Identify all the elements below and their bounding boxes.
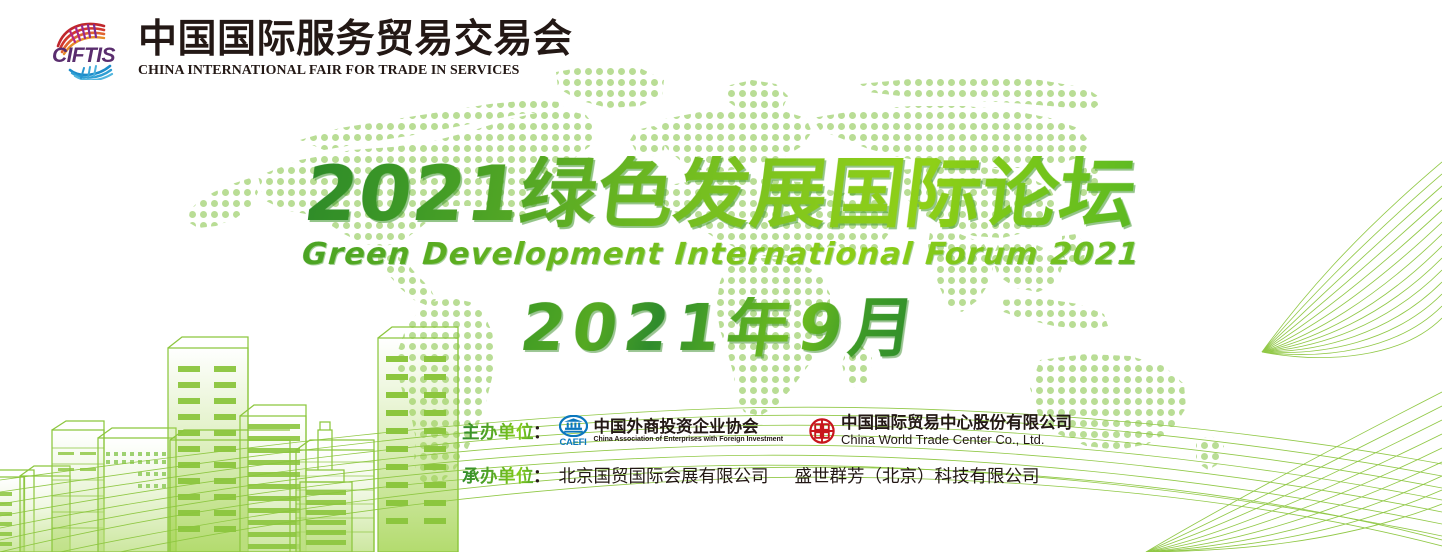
cwtc-logo-icon: [809, 418, 835, 444]
caefi-logo-icon: [559, 415, 588, 437]
ciftis-name-en: CHINA INTERNATIONAL FAIR FOR TRADE IN SE…: [138, 63, 588, 76]
headline-block: 2021绿色发展国际论坛 Green Development Internati…: [0, 156, 1442, 271]
ciftis-logo: CIFTIS 中国国际服务贸易交易会 CHINA INTERNATIONAL F…: [44, 16, 573, 80]
host-organization-cwtc: 中国国际贸易中心股份有限公司 China World Trade Center …: [809, 414, 1072, 447]
credits-block: 主办单位 ：: [462, 412, 1062, 492]
cwtc-name-en: China World Trade Center Co., Ltd.: [841, 433, 1072, 448]
organizer-name-2: 盛世群芳（北京）科技有限公司: [795, 463, 1040, 488]
organizer-credit-row: 承办单位 ： 北京国贸国际会展有限公司 盛世群芳（北京）科技有限公司: [462, 458, 1062, 492]
host-organization-caefi: CAEFI 中国外商投资企业协会 China Association of En…: [559, 415, 783, 448]
organizer-name-1: 北京国贸国际会展有限公司: [559, 463, 769, 488]
caefi-name-cn: 中国外商投资企业协会: [594, 418, 783, 435]
cwtc-name-cn: 中国国际贸易中心股份有限公司: [841, 414, 1072, 431]
host-label: 主办单位: [462, 419, 534, 444]
caefi-acronym: CAEFI: [559, 438, 586, 448]
event-date: 2021年9月: [517, 297, 926, 361]
ciftis-name-cn: 中国国际服务贸易交易会: [138, 20, 573, 59]
ciftis-acronym: CIFTIS: [52, 44, 115, 67]
caefi-logo: CAEFI: [559, 415, 588, 448]
host-credit-row: 主办单位 ：: [462, 412, 1062, 450]
page-title-en: Green Development International Forum 20…: [301, 240, 1141, 271]
organizer-label-colon: ：: [533, 463, 551, 488]
host-label-colon: ：: [533, 419, 551, 444]
ciftis-logo-icon: CIFTIS: [44, 16, 130, 80]
poster-canvas: CIFTIS 中国国际服务贸易交易会 CHINA INTERNATIONAL F…: [0, 0, 1442, 552]
caefi-name-en: China Association of Enterprises with Fo…: [594, 436, 783, 444]
page-title-cn: 2021绿色发展国际论坛: [301, 156, 1142, 232]
event-date-block: 2021年9月: [0, 297, 1442, 361]
organizer-label: 承办单位: [462, 463, 534, 488]
